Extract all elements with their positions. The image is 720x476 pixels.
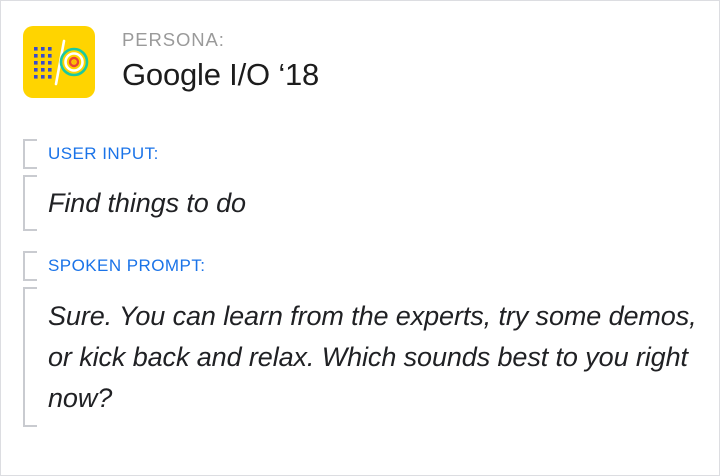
user-input-section: USER INPUT: Find things to do [23,139,246,231]
spoken-prompt-text: Sure. You can learn from the experts, tr… [48,296,713,419]
spoken-prompt-body-row: Sure. You can learn from the experts, tr… [23,287,713,427]
bracket-icon [23,251,37,281]
user-input-label-row: USER INPUT: [23,139,246,169]
user-input-body-row: Find things to do [23,175,246,231]
user-input-label: USER INPUT: [48,144,159,164]
google-io-logo-icon [23,26,95,98]
spoken-prompt-label: SPOKEN PROMPT: [48,256,205,276]
bracket-icon [23,287,37,427]
bracket-icon [23,139,37,169]
persona-label: PERSONA: [122,28,319,51]
persona-title: Google I/O ‘18 [122,56,319,95]
user-input-text: Find things to do [48,183,246,224]
spoken-prompt-label-row: SPOKEN PROMPT: [23,251,713,281]
persona-header: PERSONA: Google I/O ‘18 [23,26,319,98]
persona-text-group: PERSONA: Google I/O ‘18 [122,26,319,95]
bracket-icon [23,175,37,231]
persona-dialog-card: PERSONA: Google I/O ‘18 USER INPUT: Find… [0,0,720,476]
spoken-prompt-section: SPOKEN PROMPT: Sure. You can learn from … [23,251,713,427]
